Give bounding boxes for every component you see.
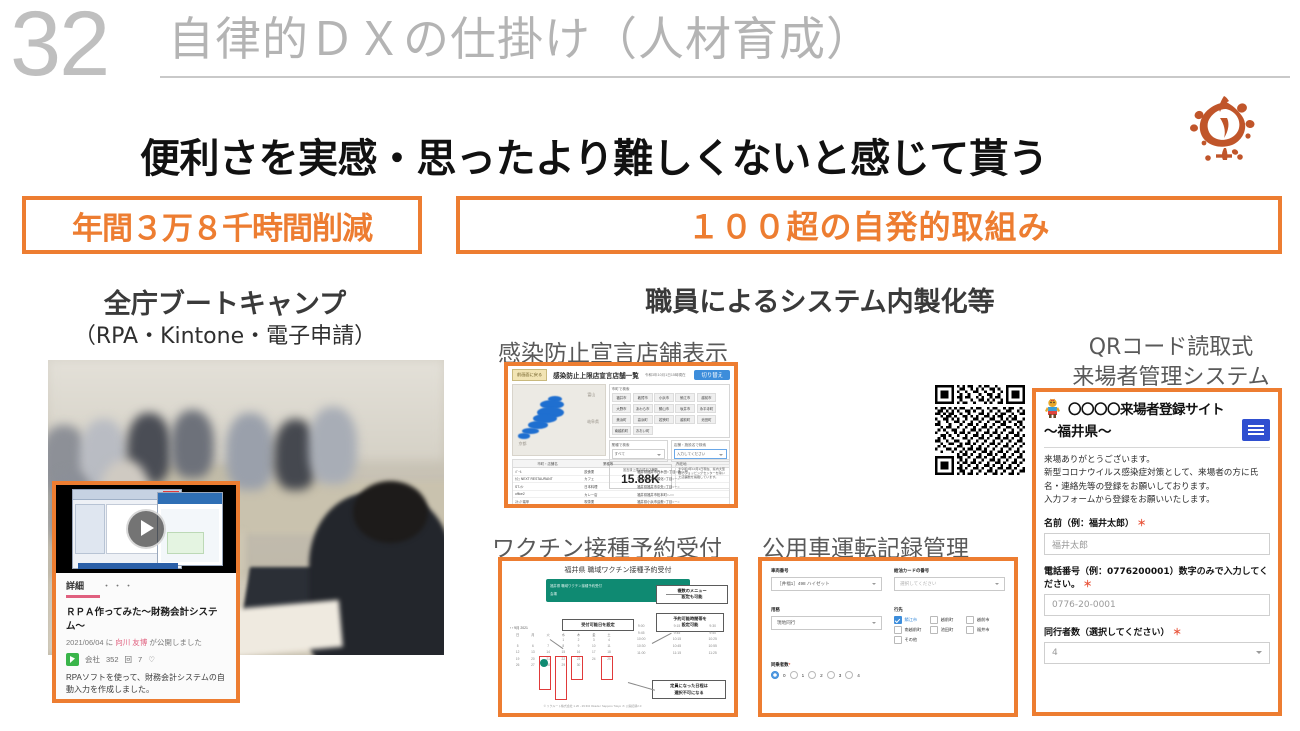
passengers-label-text: 同乗者数 (771, 662, 789, 667)
dashboard-title: 感染防止上限店宣言店舗一覧 (553, 370, 639, 380)
area-chip-list[interactable]: 福井市 敦賀市 小浜市 鯖江市 越前市 大野市 あわら市 勝山市 坂井市 永平寺… (612, 393, 727, 435)
video-description: RPAソフトを使って、財務会計システムの自動入力を作成しました。 (66, 672, 226, 695)
video-detail-underline (66, 595, 100, 598)
timeslot-row[interactable]: 9:00 9:15 9:30 (626, 623, 728, 630)
timeslot[interactable]: 10:25 (697, 637, 728, 641)
timeslot[interactable]: 9:15 (662, 624, 693, 628)
back-button[interactable]: 前画面に戻る (512, 369, 547, 381)
area-filter-label: 市町で検索 (612, 387, 727, 392)
destination-checkbox[interactable]: 池田町 (930, 626, 962, 634)
timeslot[interactable]: 10:15 (662, 637, 693, 641)
video-likes: 7 (138, 655, 142, 664)
dashboard-date: 令和3年10月1日15時現在 (645, 373, 686, 378)
area-chip[interactable]: 敦賀市 (633, 393, 653, 402)
video-thumbnail[interactable] (56, 485, 236, 573)
cell-address: 福井県小浜市遠敷○丁目○－○ (635, 498, 729, 505)
video-title: ＲＰＡ作ってみた～財務会計システム～ (66, 604, 226, 632)
timeslot[interactable]: 9:45 (662, 631, 693, 635)
vaccine-booking-screenshot: 福井県 職域ワクチン接種予約受付 福井県 職域ワクチン接種予約受付 会場 複数の… (498, 557, 738, 717)
calendar-selection (555, 656, 567, 700)
timeslot-row[interactable]: 10:30 10:45 10:55 (626, 643, 728, 650)
company-tag-icon (66, 653, 79, 666)
store-table: 市町・店舗名 業種等 所在地 ﾊﾟｰﾙ 飲食業 福井県福井市西木田○丁目○番○○… (512, 459, 730, 508)
table-header-row: 市町・店舗名 業種等 所在地 (513, 460, 729, 468)
checkbox-label: 福井市 (977, 627, 990, 633)
qr-code (935, 385, 1025, 475)
shop-search-input[interactable]: 入力してください (674, 449, 727, 459)
companions-label-text: 同行者数（選択してください） (1044, 628, 1169, 638)
cell-industry: 飲食業 (582, 468, 635, 475)
radio-label: 2 (820, 673, 823, 678)
checkbox-label: 池田町 (941, 627, 954, 633)
cell-address: 福井県福井市中央○丁目○－○ (635, 483, 729, 490)
checkbox-icon[interactable] (894, 636, 902, 644)
vaccine-calendar[interactable]: ‹ › 9月 2021 日 月 火 水 木 金 土 1234 567891011… (510, 625, 617, 668)
slide-root: 32 自律的ＤＸの仕掛け（人材育成） 便利さを実感・思ったより難しくないと感じて… (0, 0, 1300, 731)
banner-initiatives: １００超の自発的取組み (456, 196, 1282, 254)
video-tag-label: 会社 (85, 654, 100, 665)
site-body-text: 来場ありがとうございます。 新型コロナウイルス感染症対策として、来場者の方に氏名… (1044, 454, 1270, 507)
passengers-radio-group[interactable]: 0 1 2 3 4 (771, 671, 1005, 679)
cell-address: 福井県福井市花堂北○丁目○－○ (635, 506, 729, 508)
vehicle-log-screenshot: 車両番号 ［井福1］498 ハイゼット 給油カードの番号 選択してください 用務… (758, 557, 1018, 717)
area-chip[interactable]: 坂井市 (675, 404, 695, 413)
vehicle-no-label: 車両番号 (771, 568, 882, 574)
checkbox-label: その他 (905, 637, 918, 643)
timeslot[interactable]: 11:15 (662, 651, 693, 655)
cell-industry: 喫茶業 (582, 498, 635, 505)
cell-address: 福井県福井市順化○丁目○－○ (635, 476, 729, 483)
caption-qr-line1: QRコード読取式 (1089, 335, 1254, 360)
area-chip[interactable]: おおい町 (633, 426, 653, 435)
fukui-prefecture-logo (1180, 86, 1272, 166)
cell-store: 理美容・理容本料保健管理工房 ﾃﾞｨｰﾙｰﾑ・ﾑｰｸ (513, 506, 582, 508)
video-card[interactable]: 詳細 ・・・ ＲＰＡ作ってみた～財務会計システム～ 2021/06/04 に 向… (52, 481, 240, 703)
store-dashboard-screenshot: 前画面に戻る 感染防止上限店宣言店舗一覧 令和3年10月1日15時現在 切り替え… (504, 362, 738, 508)
cell-industry: カフェ (582, 476, 635, 483)
required-mark: ＊ (1083, 580, 1092, 590)
destination-checkbox[interactable]: 鯖江市 (894, 616, 926, 624)
cell-store: office2 (513, 491, 582, 498)
area-filter[interactable]: 市町で検索 福井市 敦賀市 小浜市 鯖江市 越前市 大野市 あわら市 勝山市 坂… (609, 384, 730, 438)
area-chip[interactable]: 若狭町 (654, 415, 674, 424)
checkbox-label: 南越前町 (905, 627, 922, 633)
required-mark: * (789, 662, 791, 667)
vaccine-page-title: 福井県 職域ワクチン接種予約受付 (502, 561, 734, 577)
table-row: ｽﾅｯｸ 瑞甲 喫茶業 福井県小浜市遠敷○丁目○－○ (513, 498, 729, 506)
calendar-selection (601, 656, 613, 680)
area-chip[interactable]: 南越前町 (612, 426, 632, 435)
checkbox-label: 鯖江市 (905, 617, 918, 623)
timeslot-row[interactable]: 10:00 10:15 10:25 (626, 636, 728, 643)
checkbox-icon[interactable] (894, 626, 902, 634)
visitor-registration-screenshot: 〇〇〇〇来場者登録サイト ～福井県～ 来場ありがとうございます。 新型コロナウイ… (1032, 388, 1282, 716)
vaccine-footer: © リクルート株式会社 1.26 - 29 ID2 Okada / Sappor… (544, 704, 642, 708)
heading-inhouse: 職員によるシステム内製化等 (560, 280, 1080, 319)
required-mark: ＊ (1173, 628, 1182, 638)
timeslot[interactable]: 10:45 (662, 644, 693, 648)
name-field-label: 名前（例：福井太郎） ＊ (1044, 516, 1270, 529)
checkbox-icon[interactable] (966, 616, 974, 624)
calendar-selection (539, 656, 551, 690)
timeslot[interactable]: 10:55 (697, 644, 728, 648)
area-chip[interactable]: 高浜町 (633, 415, 653, 424)
destination-checkbox[interactable]: その他 (894, 636, 926, 644)
area-chip[interactable]: 福井市 (612, 393, 632, 402)
col-header-industry: 業種等 (582, 460, 634, 467)
video-stats: 会社 352 回 7 ♡ (66, 653, 226, 666)
video-views-unit: 回 (125, 654, 133, 665)
cell-store: ﾊﾟｰﾙ (513, 468, 582, 475)
destination-checkbox[interactable]: 越前市 (966, 616, 998, 624)
video-publish-suffix: が公開しました (149, 638, 202, 647)
calendar-month-label: 9月 2021 (514, 626, 528, 630)
phone-input[interactable]: 0776-20-0001 (1044, 594, 1270, 616)
radio-label: 0 (783, 673, 786, 678)
radio-icon[interactable] (771, 671, 779, 679)
checkbox-label: 越前町 (941, 617, 954, 623)
video-detail-label: 詳細 (66, 579, 84, 592)
video-views: 352 (106, 655, 119, 664)
cell-industry: 理美容・理容本料保健管理工房 (582, 506, 635, 508)
table-row: ST-ｵﾝ 日本料理 福井県福井市中央○丁目○－○ (513, 483, 729, 491)
area-chip[interactable]: 小浜市 (654, 393, 674, 402)
fuel-card-select[interactable]: 選択してください (894, 577, 1005, 591)
radio-icon[interactable] (808, 671, 816, 679)
timeslot[interactable]: 11:25 (697, 651, 728, 655)
page-title: 自律的ＤＸの仕掛け（人材育成） (168, 10, 873, 68)
play-button-icon[interactable] (126, 509, 166, 549)
checkbox-icon[interactable] (966, 626, 974, 634)
radio-icon[interactable] (827, 671, 835, 679)
destination-checkbox-group[interactable]: 鯖江市 越前町 越前市 南越前町 (894, 616, 1005, 644)
timeslot[interactable]: 10:00 (626, 637, 657, 641)
video-author[interactable]: 向川 友博 (115, 638, 147, 647)
dashboard-toolbar: 前画面に戻る 感染防止上限店宣言店舗一覧 令和3年10月1日15時現在 切り替え (508, 366, 734, 384)
radio-icon[interactable] (790, 671, 798, 679)
menu-line2: 会場 (550, 591, 557, 596)
caption-qr-system: QRコード読取式 来場者管理システム (1052, 333, 1290, 393)
name-input[interactable]: 福井太郎 (1044, 533, 1270, 555)
annotation-full: 定員になった日程は選択不可になる (652, 680, 726, 699)
shop-filter-label: 店舗・施設名で検索 (674, 443, 727, 448)
video-meta: 2021/06/04 に 向川 友博 が公開しました (66, 637, 226, 648)
destination-checkbox[interactable]: 越前町 (930, 616, 962, 624)
required-mark: ＊ (1137, 519, 1146, 529)
heading-bootcamp-sub: （RPA・Kintone・電子申請） (30, 318, 420, 350)
checkbox-icon[interactable] (930, 626, 938, 634)
area-chip[interactable]: 勝山市 (654, 404, 674, 413)
hamburger-icon[interactable] (1242, 419, 1270, 441)
timeslot[interactable]: 9:30 (697, 624, 728, 628)
col-header-address: 所在地 (634, 460, 729, 467)
caption-qr-line2: 来場者管理システム (1072, 365, 1269, 390)
area-chip[interactable]: 永平寺町 (697, 404, 717, 413)
use-label: 用務 (771, 607, 882, 613)
companions-field-label: 同行者数（選択してください） ＊ (1044, 625, 1270, 638)
industry-select[interactable]: すべて (612, 449, 665, 459)
area-chip[interactable]: 大野市 (612, 404, 632, 413)
menu-line1: 福井県 職域ワクチン接種予約受付 (550, 583, 602, 588)
site-subtitle: ～福井県～ (1044, 420, 1112, 440)
table-row: ﾊﾟｰﾙ 飲食業 福井県福井市西木田○丁目○番○○号 (513, 468, 729, 476)
companions-select[interactable]: 4 (1044, 642, 1270, 664)
site-divider (1044, 447, 1270, 448)
area-chip[interactable]: 美浜町 (612, 415, 632, 424)
timeslot-row[interactable]: 9:45 9:45 9:50 (626, 630, 728, 637)
checkbox-label: 越前市 (977, 617, 990, 623)
checkbox-icon[interactable] (930, 616, 938, 624)
area-chip[interactable]: 鯖江市 (675, 393, 695, 402)
checkbox-icon[interactable] (894, 616, 902, 624)
switch-button[interactable]: 切り替え (694, 370, 730, 380)
banner-hours-saved: 年間３万８千時間削減 (22, 196, 422, 254)
radio-label: 1 (802, 673, 805, 678)
use-select[interactable]: 現地同行 (771, 616, 882, 630)
area-chip[interactable]: 池田町 (697, 415, 717, 424)
radio-label: 4 (857, 673, 860, 678)
radio-icon[interactable] (845, 671, 853, 679)
industry-filter-label: 業種で検索 (612, 443, 665, 448)
more-options-icon[interactable]: ・・・ (102, 579, 135, 592)
cell-address: 福井県福井市西木田○丁目○番○○号 (635, 468, 729, 475)
timeslot[interactable]: 9:00 (626, 624, 657, 628)
radio-label: 3 (839, 673, 842, 678)
table-row: 理美容・理容本料保健管理工房 ﾃﾞｨｰﾙｰﾑ・ﾑｰｸ 理美容・理容本料保健管理工… (513, 506, 729, 508)
calendar-selection (571, 656, 583, 680)
timeslot[interactable]: 9:50 (697, 631, 728, 635)
cell-store: ｶﾌｪ NEXT RESTAURANT (513, 476, 582, 483)
heart-icon: ♡ (148, 655, 155, 664)
vaccine-timeslots[interactable]: 9:00 9:15 9:30 9:45 9:45 9:50 10:00 10:1… (626, 623, 728, 656)
area-chip[interactable]: あわら市 (633, 404, 653, 413)
cell-address: 福井県福井市松本町○-○○ (635, 491, 729, 498)
timeslot-row[interactable]: 11:00 11:15 11:25 (626, 649, 728, 656)
name-label-text: 名前（例：福井太郎） (1044, 519, 1134, 529)
destination-label: 行先 (894, 607, 1005, 613)
phone-label-text: 電話番号（例：0776200001）数字のみで入力してください。 (1044, 567, 1268, 590)
mascot-icon (1044, 398, 1061, 418)
cell-industry: 日本料理 (582, 483, 635, 490)
fukui-map[interactable]: 富山 岐阜県 京都 (512, 384, 606, 456)
heading-bootcamp: 全庁ブートキャンプ (30, 282, 420, 321)
table-row: office2 カレー店 福井県福井市松本町○-○○ (513, 491, 729, 499)
col-header-store: 市町・店舗名 (513, 460, 582, 467)
destination-checkbox[interactable]: 南越前町 (894, 626, 926, 634)
cell-industry: カレー店 (582, 491, 635, 498)
area-chip[interactable]: 越前町 (675, 415, 695, 424)
site-title: 〇〇〇〇来場者登録サイト (1068, 398, 1224, 418)
timeslot[interactable]: 9:45 (626, 631, 657, 635)
slide-subtitle: 便利さを実感・思ったより難しくないと感じて貰う (140, 126, 1048, 184)
phone-field-label: 電話番号（例：0776200001）数字のみで入力してください。 ＊ (1044, 564, 1270, 590)
passengers-label: 同乗者数* (771, 662, 1005, 668)
table-row: ｶﾌｪ NEXT RESTAURANT カフェ 福井県福井市順化○丁目○－○ (513, 476, 729, 484)
timeslot[interactable]: 10:30 (626, 644, 657, 648)
fuel-card-label: 給油カードの番号 (894, 568, 1005, 574)
title-divider (160, 76, 1290, 78)
area-chip[interactable]: 越前市 (697, 393, 717, 402)
destination-checkbox[interactable]: 福井市 (966, 626, 998, 634)
slide-number: 32 (10, 0, 108, 90)
calendar-month: ‹ › 9月 2021 (510, 625, 617, 630)
cell-store: ｽﾅｯｸ 瑞甲 (513, 498, 582, 505)
timeslot[interactable]: 11:00 (626, 651, 657, 655)
video-date: 2021/06/04 に (66, 638, 113, 647)
cell-store: ST-ｵﾝ (513, 483, 582, 490)
vehicle-no-select[interactable]: ［井福1］498 ハイゼット (771, 577, 882, 591)
